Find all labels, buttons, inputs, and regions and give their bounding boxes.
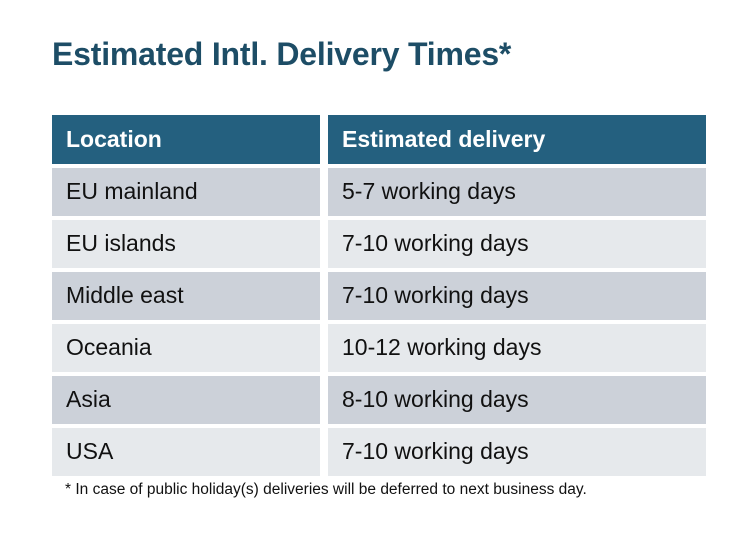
delivery-times-table-wrapper: Location Estimated delivery EU mainland … <box>44 111 698 480</box>
column-header-delivery: Estimated delivery <box>328 115 706 164</box>
column-header-location: Location <box>52 115 320 164</box>
page-title: Estimated Intl. Delivery Times* <box>52 36 511 73</box>
table-header: Location Estimated delivery <box>52 115 706 164</box>
cell-location: EU mainland <box>52 168 320 216</box>
cell-delivery: 5-7 working days <box>328 168 706 216</box>
table-row: USA 7-10 working days <box>52 428 706 476</box>
cell-location: Asia <box>52 376 320 424</box>
table-row: Middle east 7-10 working days <box>52 272 706 320</box>
table-row: Asia 8-10 working days <box>52 376 706 424</box>
cell-delivery: 7-10 working days <box>328 428 706 476</box>
cell-location: Oceania <box>52 324 320 372</box>
table-row: Oceania 10-12 working days <box>52 324 706 372</box>
cell-delivery: 10-12 working days <box>328 324 706 372</box>
cell-delivery: 7-10 working days <box>328 220 706 268</box>
cell-location: USA <box>52 428 320 476</box>
table-row: EU mainland 5-7 working days <box>52 168 706 216</box>
cell-delivery: 8-10 working days <box>328 376 706 424</box>
footnote-text: * In case of public holiday(s) deliverie… <box>65 481 587 499</box>
table-body: EU mainland 5-7 working days EU islands … <box>52 168 706 476</box>
cell-delivery: 7-10 working days <box>328 272 706 320</box>
delivery-times-table: Location Estimated delivery EU mainland … <box>44 111 714 480</box>
table-header-row: Location Estimated delivery <box>52 115 706 164</box>
cell-location: EU islands <box>52 220 320 268</box>
cell-location: Middle east <box>52 272 320 320</box>
table-row: EU islands 7-10 working days <box>52 220 706 268</box>
delivery-times-page: Estimated Intl. Delivery Times* Location… <box>0 0 745 536</box>
